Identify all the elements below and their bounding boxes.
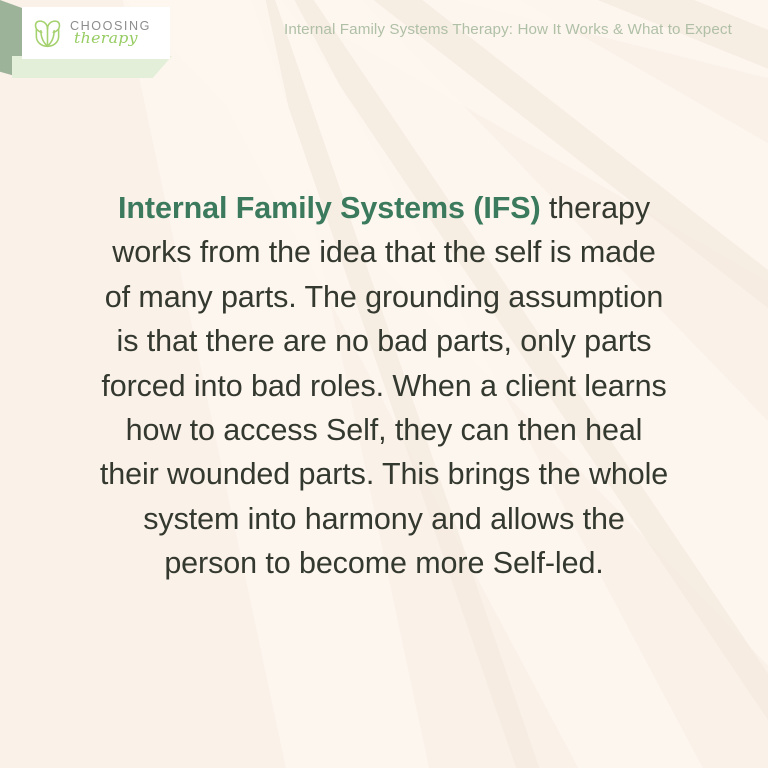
quote-line: works from the idea that the self is mad…: [60, 230, 708, 274]
quote-line: system into harmony and allows the: [60, 497, 708, 541]
logo-card-shadow: [12, 56, 172, 78]
quote-line: Internal Family Systems (IFS) therapy: [60, 186, 708, 230]
quote-line: their wounded parts. This brings the who…: [60, 452, 708, 496]
brand-logo[interactable]: CHOOSING therapy: [0, 0, 200, 90]
article-title: Internal Family Systems Therapy: How It …: [284, 20, 752, 40]
lotus-leaf-icon: [31, 17, 64, 50]
quote-body: Internal Family Systems (IFS) therapywor…: [60, 186, 708, 586]
quote-line: how to access Self, they can then heal: [60, 408, 708, 452]
logo-card[interactable]: CHOOSING therapy: [22, 7, 170, 59]
quote-highlight: Internal Family Systems (IFS): [118, 191, 541, 225]
brand-name-bottom: therapy: [74, 31, 155, 46]
quote-line: person to become more Self-led.: [60, 541, 708, 585]
infographic-card: CHOOSING therapy Internal Family Systems…: [0, 0, 768, 768]
quote-line: is that there are no bad parts, only par…: [60, 319, 708, 363]
brand-wordmark: CHOOSING therapy: [70, 20, 151, 47]
quote-line: forced into bad roles. When a client lea…: [60, 364, 708, 408]
quote-line: of many parts. The grounding assumption: [60, 275, 708, 319]
